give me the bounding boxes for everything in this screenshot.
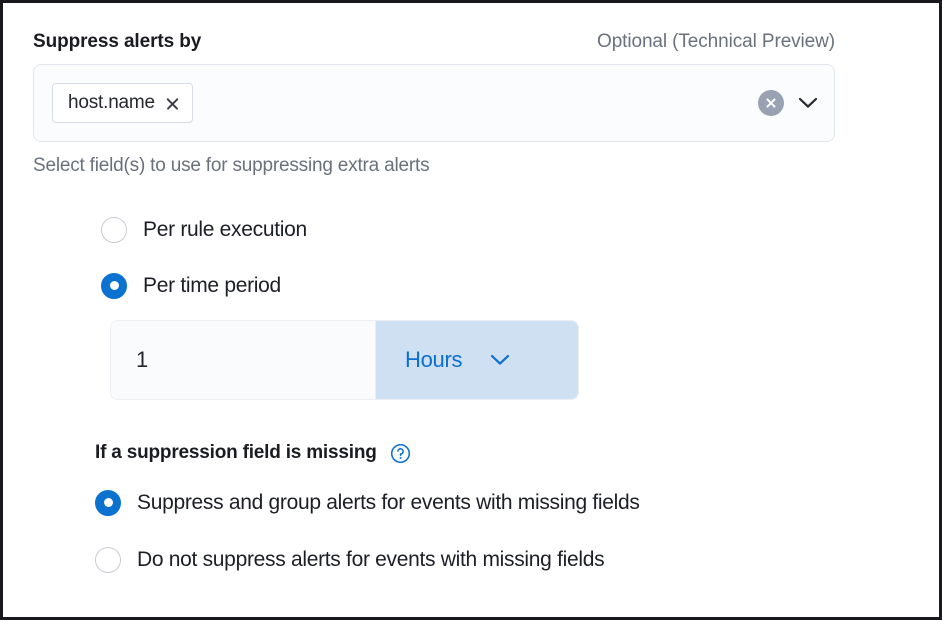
radio-label: Suppress and group alerts for events wit… bbox=[137, 491, 640, 515]
missing-field-radio-group: Suppress and group alerts for events wit… bbox=[95, 484, 909, 578]
duration-unit-label: Hours bbox=[405, 347, 462, 373]
screenshot-frame: Suppress alerts by Optional (Technical P… bbox=[0, 0, 942, 620]
chevron-down-icon[interactable] bbox=[798, 97, 818, 109]
question-mark-circle-icon[interactable] bbox=[390, 443, 411, 464]
radio-option-per-time-period[interactable]: Per time period bbox=[101, 267, 909, 304]
radio-option-suppress-and-group[interactable]: Suppress and group alerts for events wit… bbox=[95, 484, 909, 521]
radio-option-per-rule-execution[interactable]: Per rule execution bbox=[101, 211, 909, 248]
radio-indicator[interactable] bbox=[95, 547, 121, 573]
combobox-helper-text: Select field(s) to use for suppressing e… bbox=[33, 155, 909, 177]
radio-label: Per rule execution bbox=[143, 218, 307, 242]
radio-indicator[interactable] bbox=[101, 217, 127, 243]
duration-value-input[interactable]: 1 bbox=[111, 321, 376, 399]
combobox-actions bbox=[758, 90, 818, 116]
suppression-mode-radio-group: Per rule execution Per time period bbox=[101, 211, 909, 304]
selected-field-pill[interactable]: host.name bbox=[52, 83, 193, 123]
missing-field-section: If a suppression field is missing Suppre… bbox=[95, 442, 909, 578]
radio-label: Per time period bbox=[143, 274, 281, 298]
missing-field-heading: If a suppression field is missing bbox=[95, 442, 909, 464]
suppress-alerts-panel: Suppress alerts by Optional (Technical P… bbox=[3, 3, 939, 617]
chevron-down-icon[interactable] bbox=[490, 354, 510, 366]
missing-field-heading-text: If a suppression field is missing bbox=[95, 442, 377, 464]
radio-label: Do not suppress alerts for events with m… bbox=[137, 548, 604, 572]
radio-option-do-not-suppress[interactable]: Do not suppress alerts for events with m… bbox=[95, 541, 909, 578]
duration-unit-select[interactable]: Hours bbox=[376, 321, 578, 399]
field-header: Suppress alerts by Optional (Technical P… bbox=[33, 31, 835, 53]
selected-field-pill-label: host.name bbox=[68, 92, 155, 114]
duration-value-text: 1 bbox=[136, 347, 148, 373]
radio-indicator[interactable] bbox=[101, 273, 127, 299]
duration-control: 1 Hours bbox=[111, 321, 578, 399]
page-title: Suppress alerts by bbox=[33, 31, 201, 53]
radio-indicator[interactable] bbox=[95, 490, 121, 516]
suppress-by-combobox[interactable]: host.name bbox=[33, 64, 835, 142]
close-x-icon[interactable] bbox=[165, 96, 180, 111]
clear-circle-x-icon[interactable] bbox=[758, 90, 784, 116]
optional-note: Optional (Technical Preview) bbox=[597, 31, 835, 53]
